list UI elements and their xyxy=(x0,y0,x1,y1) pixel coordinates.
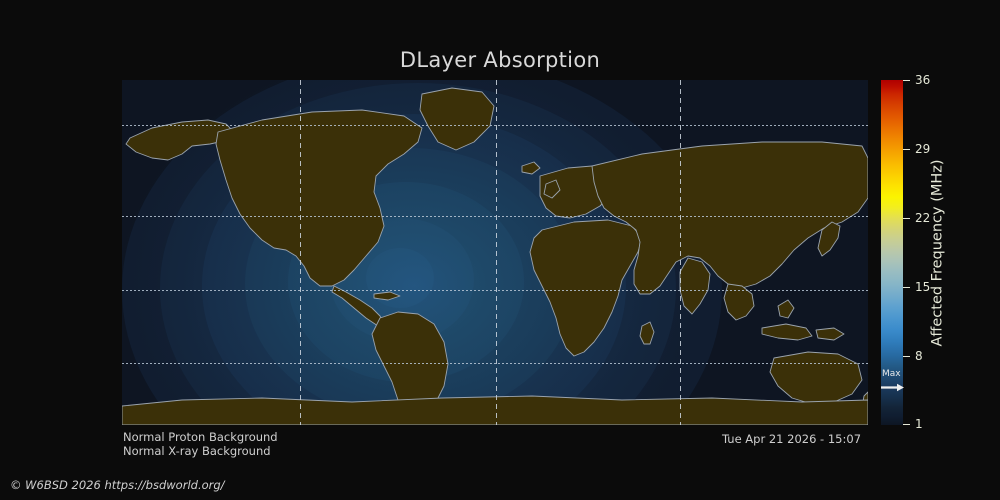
colorbar-tick-mark xyxy=(903,287,910,288)
gridline-lon-m10 xyxy=(496,80,497,425)
xray-status-text: Normal X-ray Background xyxy=(123,444,271,458)
dlayer-absorption-page: DLayer Absorption xyxy=(0,0,1000,500)
max-marker-label: Max xyxy=(882,370,901,379)
colorbar-tick-mark xyxy=(903,80,910,81)
colorbar[interactable]: Max 36 29 22 15 8 1 xyxy=(881,80,903,425)
colorbar-axis-label-text: Affected Frequency (MHz) xyxy=(930,159,946,346)
map-canvas xyxy=(122,80,868,425)
page-title: DLayer Absorption xyxy=(0,48,1000,72)
proton-status-text: Normal Proton Background xyxy=(123,430,278,444)
colorbar-tick-mark xyxy=(903,424,910,425)
gridline-lat-66 xyxy=(122,125,868,126)
gridline-lon-m105 xyxy=(300,80,301,425)
gridline-lat-m22 xyxy=(122,363,868,364)
world-map[interactable] xyxy=(122,80,868,425)
colorbar-axis-label: Affected Frequency (MHz) xyxy=(926,80,950,425)
copyright-text: © W6BSD 2026 https://bsdworld.org/ xyxy=(10,478,225,492)
max-arrow-icon xyxy=(881,383,905,392)
colorbar-tick-label: 1 xyxy=(915,417,923,431)
gridline-lon-85 xyxy=(680,80,681,425)
colorbar-tick-label: 8 xyxy=(915,349,923,363)
colorbar-tick-mark xyxy=(903,356,910,357)
timestamp-text: Tue Apr 21 2026 - 15:07 xyxy=(722,432,861,446)
colorbar-tick-mark xyxy=(903,218,910,219)
gridline-lat-23 xyxy=(122,216,868,217)
colorbar-tick-mark xyxy=(903,149,910,150)
gridline-lat-0 xyxy=(122,290,868,291)
